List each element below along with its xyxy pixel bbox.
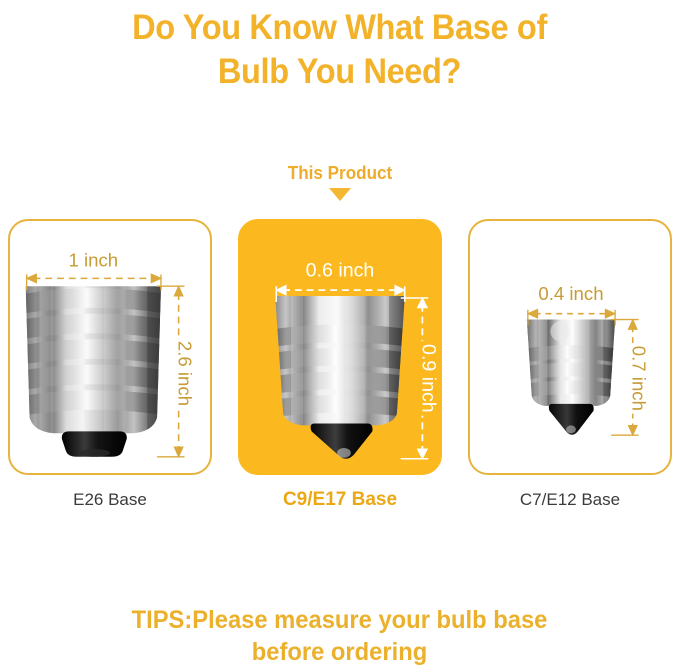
tips-note: TIPS:Please measure your bulb base befor… [17,604,662,668]
width-dimension-label-e26: 1 inch [68,250,118,271]
base-caption-c7-e12: C7/E12 Base [468,489,672,511]
tips-line-2: before ordering [17,636,662,668]
width-dimension-label-e12: 0.4 inch [538,283,603,304]
title-line-2: Bulb You Need? [24,50,655,94]
height-dimension-label-e17: 0.9 inch [417,344,439,413]
height-dimension-label-e12: 0.7 inch [629,346,650,411]
screw-base-e12-icon: 0.4 inch 0.7 inch [470,221,670,473]
base-card-c9-e17[interactable]: 0.6 inch 0.9 inch [238,219,442,475]
base-caption-c9-e17: C9/E17 Base [238,489,442,511]
this-product-callout: This Product [238,163,442,201]
tips-line-1: TIPS:Please measure your bulb base [132,606,548,634]
height-dimension-label-e26: 2.6 inch [175,341,196,406]
this-product-label: This Product [288,163,393,183]
base-card-c7-e12[interactable]: 0.4 inch 0.7 inch [468,219,672,475]
triangle-down-icon [329,188,351,201]
width-dimension-label-e17: 0.6 inch [306,259,375,281]
screw-base-e26-icon: 1 inch 2.6 inch [10,221,210,473]
infographic-root: Do You Know What Base of Bulb You Need? … [0,0,679,672]
screw-base-e17-icon: 0.6 inch 0.9 inch [240,221,440,473]
page-title: Do You Know What Base of Bulb You Need? [24,6,655,94]
base-card-e26[interactable]: 1 inch 2.6 inch [8,219,212,475]
title-line-1: Do You Know What Base of [132,8,547,47]
base-caption-e26: E26 Base [8,489,212,511]
